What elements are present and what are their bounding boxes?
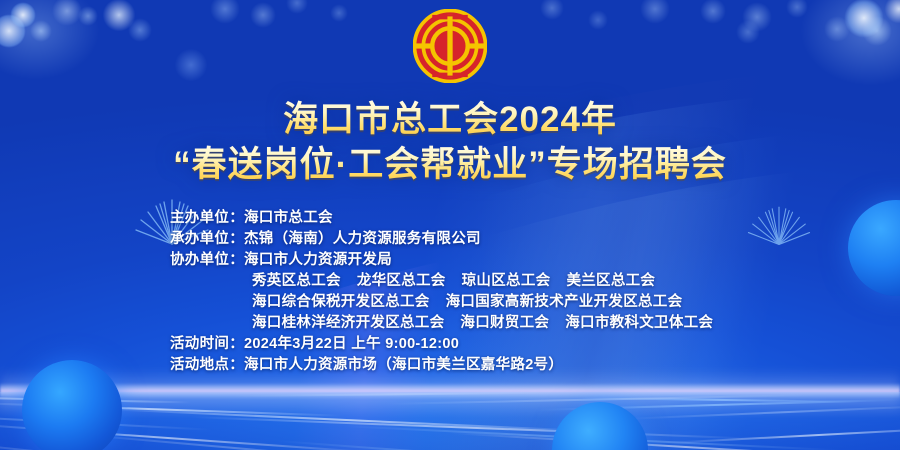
- horizon-line: [0, 383, 900, 399]
- bokeh-circle: [884, 0, 900, 24]
- info-row-coorganizer-extra: 秀英区总工会龙华区总工会琼山区总工会美兰区总工会: [170, 271, 730, 292]
- bokeh-circle: [786, 0, 808, 18]
- coorganizer-extra-item: 美兰区总工会: [566, 273, 655, 289]
- time-value: 2024年3月22日 上午 9:00-12:00: [244, 336, 459, 352]
- bokeh-circle: [128, 18, 152, 42]
- poster-title-line-2: “春送岗位·工会帮就业”专场招聘会: [0, 145, 900, 184]
- organizer-label: 承办单位：: [170, 231, 244, 247]
- poster-info-block: 主办单位：海口市总工会 承办单位：杰锦（海南）人力资源服务有限公司 协办单位：海…: [0, 208, 900, 376]
- recruitment-poster: 海口市总工会2024年 “春送岗位·工会帮就业”专场招聘会 主办单位：海口市总工…: [0, 0, 900, 450]
- bokeh-circle: [210, 0, 240, 24]
- bokeh-circle: [78, 6, 98, 26]
- host-value: 海口市总工会: [244, 210, 333, 226]
- coorganizer-extra-item: 海口桂林洋经济开发区总工会: [252, 315, 444, 331]
- bokeh-glow: [0, 0, 100, 80]
- coorganizer-extra-item: 海口市教科文卫体工会: [565, 315, 713, 331]
- poster-title-line-1: 海口市总工会2024年: [0, 100, 900, 139]
- bokeh-circle: [844, 0, 884, 38]
- bokeh-circle: [700, 0, 726, 24]
- coorganizer-extra-item: 海口财贸工会: [460, 315, 549, 331]
- bokeh-circle: [102, 0, 136, 32]
- ground-speed-lines: [0, 392, 900, 450]
- coorganizer-extra-item: 龙华区总工会: [357, 273, 446, 289]
- info-row-coorganizer-extra: 海口综合保税开发区总工会海口国家高新技术产业开发区总工会: [170, 292, 730, 313]
- coorganizer-extra-item: 秀英区总工会: [252, 273, 341, 289]
- poster-title-block: 海口市总工会2024年 “春送岗位·工会帮就业”专场招聘会: [0, 100, 900, 184]
- coorganizer-extra-item: 海口国家高新技术产业开发区总工会: [446, 294, 683, 310]
- host-label: 主办单位：: [170, 210, 244, 226]
- bokeh-circle: [588, 10, 608, 30]
- bokeh-circle: [286, 0, 308, 14]
- bokeh-circle: [824, 16, 850, 42]
- bokeh-circle: [736, 20, 760, 44]
- ground-wash: [0, 392, 900, 450]
- bokeh-circle: [0, 14, 26, 48]
- info-row-place: 活动地点：海口市人力资源市场（海口市美兰区嘉华路2号）: [170, 355, 730, 376]
- bokeh-circle: [540, 0, 564, 20]
- time-label: 活动时间：: [170, 336, 244, 352]
- place-label: 活动地点：: [170, 357, 244, 373]
- bokeh-circle: [174, 48, 208, 82]
- info-row-time: 活动时间：2024年3月22日 上午 9:00-12:00: [170, 334, 730, 355]
- chinese-trade-union-emblem-icon: [413, 9, 487, 83]
- organizer-value: 杰锦（海南）人力资源服务有限公司: [244, 231, 481, 247]
- bokeh-circle: [250, 2, 276, 28]
- sphere-center-bottom: [552, 402, 648, 450]
- bokeh-circle: [52, 0, 82, 26]
- coorganizer-extra-item: 琼山区总工会: [462, 273, 551, 289]
- bokeh-circle: [330, 4, 348, 22]
- coorganizer-label: 协办单位：: [170, 252, 244, 268]
- info-row-coorganizer: 协办单位：海口市人力资源开发局: [170, 250, 730, 271]
- horizon-glow: [0, 370, 900, 416]
- bokeh-circle: [640, 0, 670, 24]
- place-value: 海口市人力资源市场（海口市美兰区嘉华路2号）: [244, 357, 563, 373]
- coorganizer-value: 海口市人力资源开发局: [244, 252, 392, 268]
- coorganizer-extra-item: 海口综合保税开发区总工会: [252, 294, 430, 310]
- info-row-organizer: 承办单位：杰锦（海南）人力资源服务有限公司: [170, 229, 730, 250]
- info-row-coorganizer-extra: 海口桂林洋经济开发区总工会海口财贸工会海口市教科文卫体工会: [170, 313, 730, 334]
- bokeh-circle: [742, 2, 772, 32]
- bokeh-circle: [862, 16, 892, 46]
- bokeh-circle: [10, 2, 36, 28]
- info-row-host: 主办单位：海口市总工会: [170, 208, 730, 229]
- bokeh-glow: [800, 0, 900, 86]
- bokeh-circle: [30, 20, 52, 42]
